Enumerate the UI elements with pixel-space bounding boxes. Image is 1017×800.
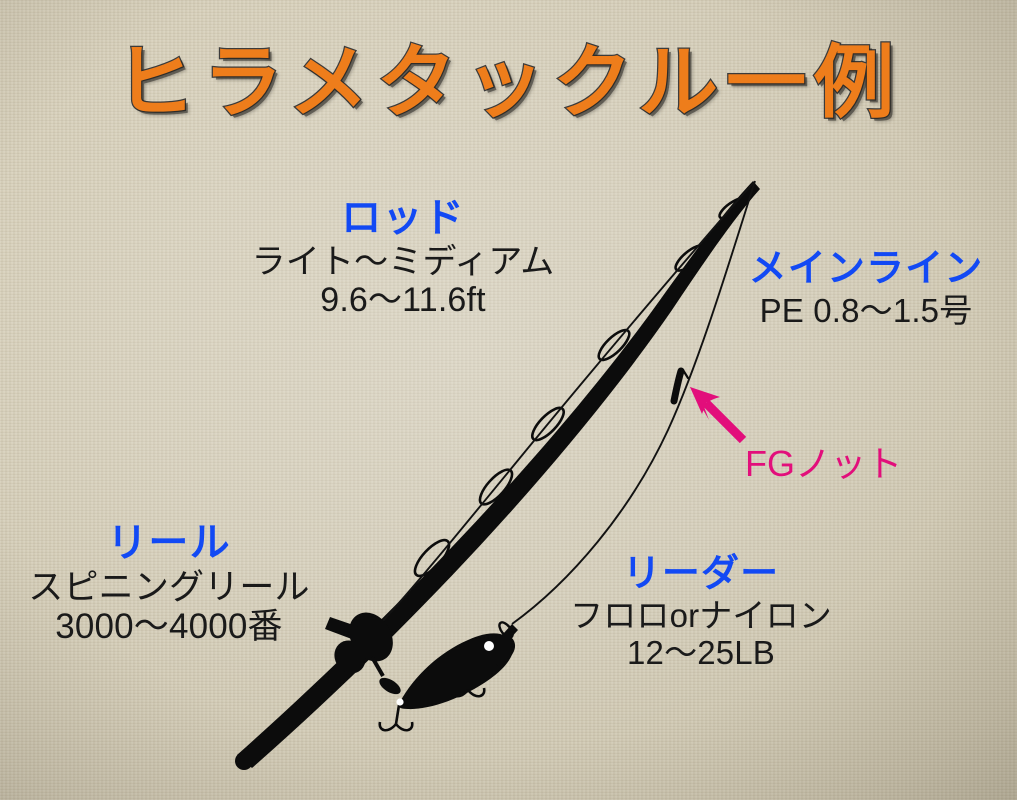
callout-rod-line2: 9.6〜11.6ft [218, 281, 588, 319]
fg-knot-mark [674, 371, 681, 401]
callout-reel-title: リール [14, 521, 324, 566]
callout-rod: ロッド ライト〜ミディアム 9.6〜11.6ft [218, 196, 588, 319]
callout-mainline: メインライン PE 0.8〜1.5号 [722, 248, 1010, 330]
callout-leader-title: リーダー [556, 553, 846, 596]
fg-knot-arrow [690, 387, 743, 440]
illustration-canvas: ヒラメタックル一例 ロッド ライト〜ミディアム 9.6〜11.6ft メインライ… [0, 0, 1017, 800]
callout-mainline-line1: PE 0.8〜1.5号 [722, 293, 1010, 330]
hook-eye-mid [466, 666, 472, 675]
minnow-lure [380, 624, 518, 730]
callout-leader-line1: フロロorナイロン [556, 598, 846, 635]
callout-leader-line2: 12〜25LB [556, 635, 846, 672]
callout-fgknot-title: FGノット [745, 443, 902, 484]
tackle-diagram [0, 0, 1017, 800]
callout-reel-line2: 3000〜4000番 [14, 607, 324, 646]
callout-rod-title: ロッド [218, 196, 588, 241]
callout-fgknot: FGノット [745, 444, 905, 484]
callout-rod-line1: ライト〜ミディアム [218, 243, 588, 281]
callout-reel-line1: スピニングリール [14, 568, 324, 607]
callout-reel: リール スピニングリール 3000〜4000番 [14, 521, 324, 646]
callout-mainline-title: メインライン [722, 248, 1010, 291]
callout-leader: リーダー フロロorナイロン 12〜25LB [556, 553, 846, 671]
rod-butt-cap [235, 752, 253, 770]
hook-eye-tail [396, 698, 403, 705]
